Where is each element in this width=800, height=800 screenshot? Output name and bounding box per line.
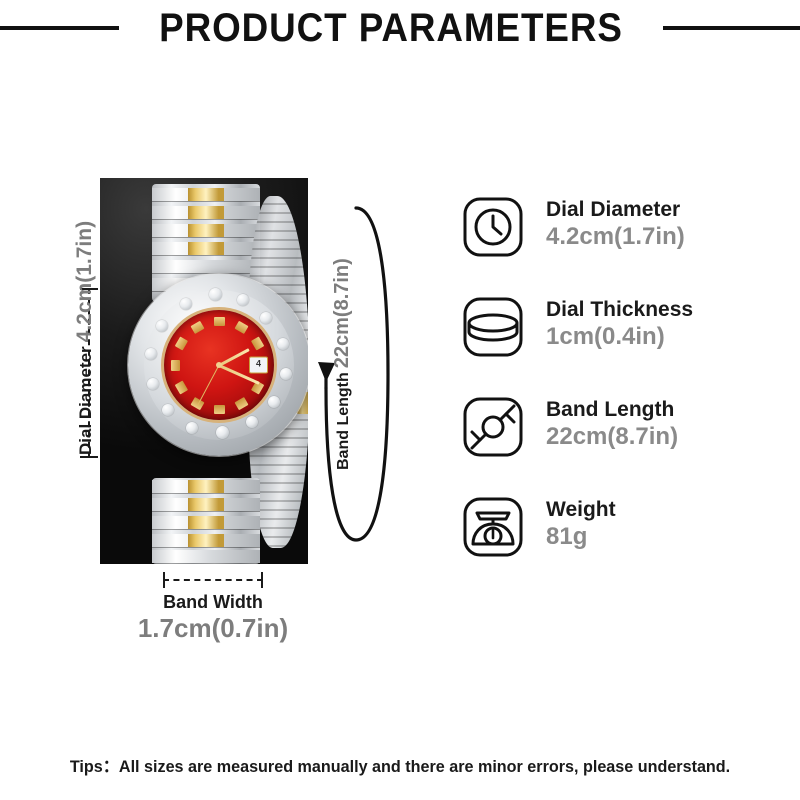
tips-note: Tips：All sizes are measured manually and… [20, 752, 780, 777]
spec-value: 4.2cm(1.7in) [546, 222, 685, 252]
measure-cap-right [261, 572, 263, 588]
date-window: 4 [249, 357, 268, 374]
spec-name: Dial Diameter [546, 198, 680, 221]
bracelet-lower [152, 478, 260, 564]
dial-diameter-annotation-name: Dial Diameter [77, 346, 95, 455]
watch-dial-icon [462, 196, 524, 258]
hand-pinion [216, 362, 222, 368]
page-title-row: PRODUCT PARAMETERS [0, 0, 800, 56]
spec-name: Band Length [546, 398, 674, 421]
title-rule-left [0, 26, 119, 30]
spec-text-dial-thickness: Dial Thickness 1cm(0.4in) [546, 296, 693, 352]
band-length-loop [316, 196, 392, 552]
product-photo: 4 [100, 178, 308, 564]
band-length-annotation-name: Band Length [336, 372, 353, 470]
measure-cap-bottom [80, 456, 98, 458]
hour-hand [218, 348, 249, 367]
spec-name: Weight [546, 498, 616, 521]
spec-text-band-length: Band Length 22cm(8.7in) [546, 396, 678, 452]
spec-value: 81g [546, 522, 616, 552]
spec-list: Dial Diameter 4.2cm(1.7in) Dial Thicknes… [462, 196, 782, 596]
band-length-annotation-value: 22cm(8.7in) [332, 258, 353, 368]
kitchen-scale-icon [462, 496, 524, 558]
dial-diameter-annotation: Dial Diameter 4.2cm(1.7in) [74, 221, 96, 455]
watch-illustration: 4 [100, 178, 308, 564]
band-width-measure-line [163, 572, 263, 588]
page-title: PRODUCT PARAMETERS [159, 6, 623, 51]
spec-item-dial-thickness: Dial Thickness 1cm(0.4in) [462, 296, 782, 396]
band-width-annotation-value: 1.7cm(0.7in) [0, 613, 426, 644]
spec-item-weight: Weight 81g [462, 496, 782, 596]
band-length-annotation: Band Length 22cm(8.7in) [332, 258, 353, 470]
watch-case: 4 [128, 274, 308, 456]
watch-band-icon [462, 396, 524, 458]
band-width-annotation-name: Band Width [0, 592, 426, 613]
spec-text-dial-diameter: Dial Diameter 4.2cm(1.7in) [546, 196, 685, 252]
diamond-bezel: 4 [144, 290, 294, 440]
measure-dashed-line-h [163, 579, 263, 581]
spec-item-dial-diameter: Dial Diameter 4.2cm(1.7in) [462, 196, 782, 296]
disc-thickness-icon [462, 296, 524, 358]
product-parameters-page: PRODUCT PARAMETERS [0, 0, 800, 800]
spec-value: 1cm(0.4in) [546, 322, 693, 352]
spec-name: Dial Thickness [546, 298, 693, 321]
title-rule-right [663, 26, 800, 30]
spec-item-band-length: Band Length 22cm(8.7in) [462, 396, 782, 496]
watch-dial: 4 [164, 310, 274, 420]
spec-text-weight: Weight 81g [546, 496, 616, 552]
second-hand [197, 365, 220, 406]
spec-value: 22cm(8.7in) [546, 422, 678, 452]
dial-diameter-annotation-value: 4.2cm(1.7in) [74, 221, 96, 342]
